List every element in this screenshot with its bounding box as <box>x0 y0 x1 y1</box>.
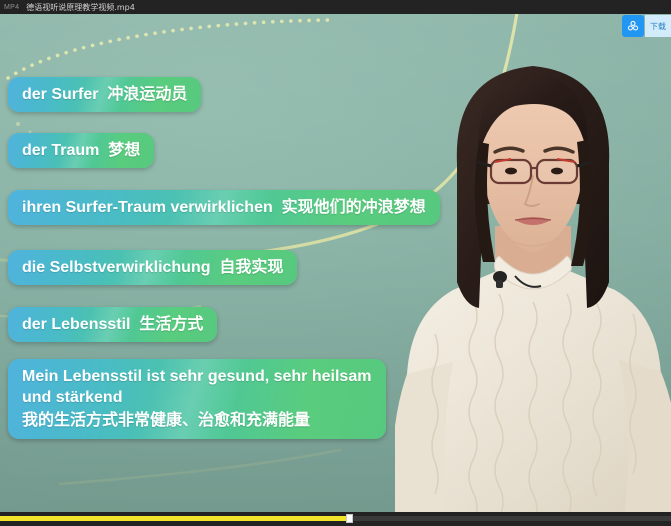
video-canvas[interactable]: der Surfer 冲浪运动员 der Traum 梦想 ihren Surf… <box>0 14 671 512</box>
subtitle-chinese: 实现他们的冲浪梦想 <box>282 197 426 216</box>
subtitle-bubble: der Traum 梦想 <box>8 133 154 168</box>
progress-handle[interactable] <box>346 514 353 523</box>
subtitle-bubble: der Surfer 冲浪运动员 <box>8 77 201 112</box>
subtitle-bubble: der Lebensstil 生活方式 <box>8 307 217 342</box>
progress-played <box>0 516 349 521</box>
subtitle-german: ihren Surfer-Traum verwirklichen <box>22 199 273 216</box>
sentence-chinese: 我的生活方式非常健康、治愈和充满能量 <box>22 409 372 430</box>
sentence-german-line2: und stärkend <box>22 387 372 408</box>
title-bar: MP4 德语视听说原理教学视频.mp4 <box>0 0 671 14</box>
file-name-label: 德语视听说原理教学视频.mp4 <box>26 2 135 13</box>
overlay-actions: 下载 <box>622 14 671 38</box>
subtitle-german: der Surfer <box>22 86 98 103</box>
subtitle-german: der Lebensstil <box>22 316 130 333</box>
subtitle-chinese: 梦想 <box>108 140 140 159</box>
subtitle-german: der Traum <box>22 142 99 159</box>
presenter-figure <box>395 14 671 512</box>
subtitle-bubble: die Selbstverwirklichung 自我实现 <box>8 250 297 285</box>
cloud-triple-circle-icon <box>626 19 640 33</box>
file-type-label: MP4 <box>4 4 19 11</box>
subtitle-chinese: 冲浪运动员 <box>107 84 187 103</box>
download-button-label: 下载 <box>650 21 666 32</box>
video-player-window: MP4 德语视听说原理教学视频.mp4 <box>0 0 671 526</box>
sentence-german-line1: Mein Lebensstil ist sehr gesund, sehr he… <box>22 368 371 385</box>
baidu-netdisk-icon[interactable] <box>622 15 644 37</box>
player-control-bar[interactable] <box>0 512 671 526</box>
subtitle-german: die Selbstverwirklichung <box>22 259 211 276</box>
subtitle-chinese: 生活方式 <box>139 314 203 333</box>
download-button[interactable]: 下载 <box>645 15 671 37</box>
subtitle-bubble-sentence: Mein Lebensstil ist sehr gesund, sehr he… <box>8 359 386 439</box>
subtitle-bubble: ihren Surfer-Traum verwirklichen 实现他们的冲浪… <box>8 190 440 225</box>
subtitle-chinese: 自我实现 <box>219 257 283 276</box>
